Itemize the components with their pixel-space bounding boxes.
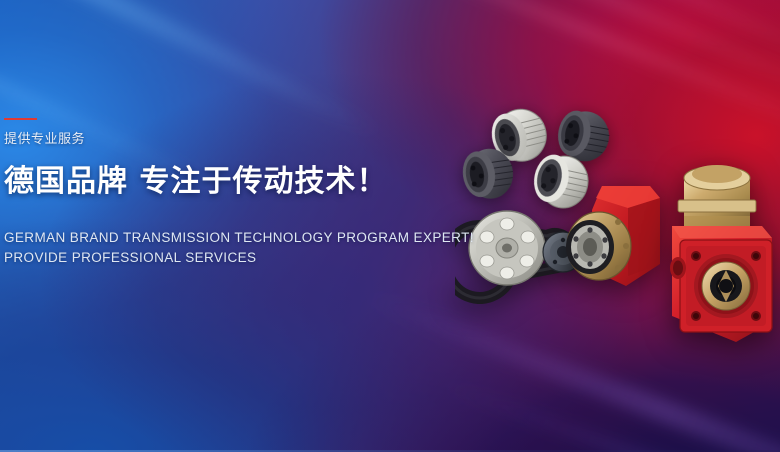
banner-copy: 提供专业服务 德国品牌 专注于传动技术！ GERMAN BRAND TRANSM… — [4, 118, 434, 268]
english-line-1: GERMAN BRAND TRANSMISSION TECHNOLOGY PRO… — [4, 228, 434, 248]
accent-rule — [4, 118, 37, 120]
english-line-2: PROVIDE PROFESSIONAL SERVICES — [4, 248, 434, 268]
banner-subtitle: 提供专业服务 — [4, 132, 434, 148]
hero-banner: 提供专业服务 德国品牌 专注于传动技术！ GERMAN BRAND TRANSM… — [0, 0, 780, 452]
banner-english-caption: GERMAN BRAND TRANSMISSION TECHNOLOGY PRO… — [4, 228, 434, 268]
banner-headline: 德国品牌 专注于传动技术！ — [4, 164, 434, 200]
